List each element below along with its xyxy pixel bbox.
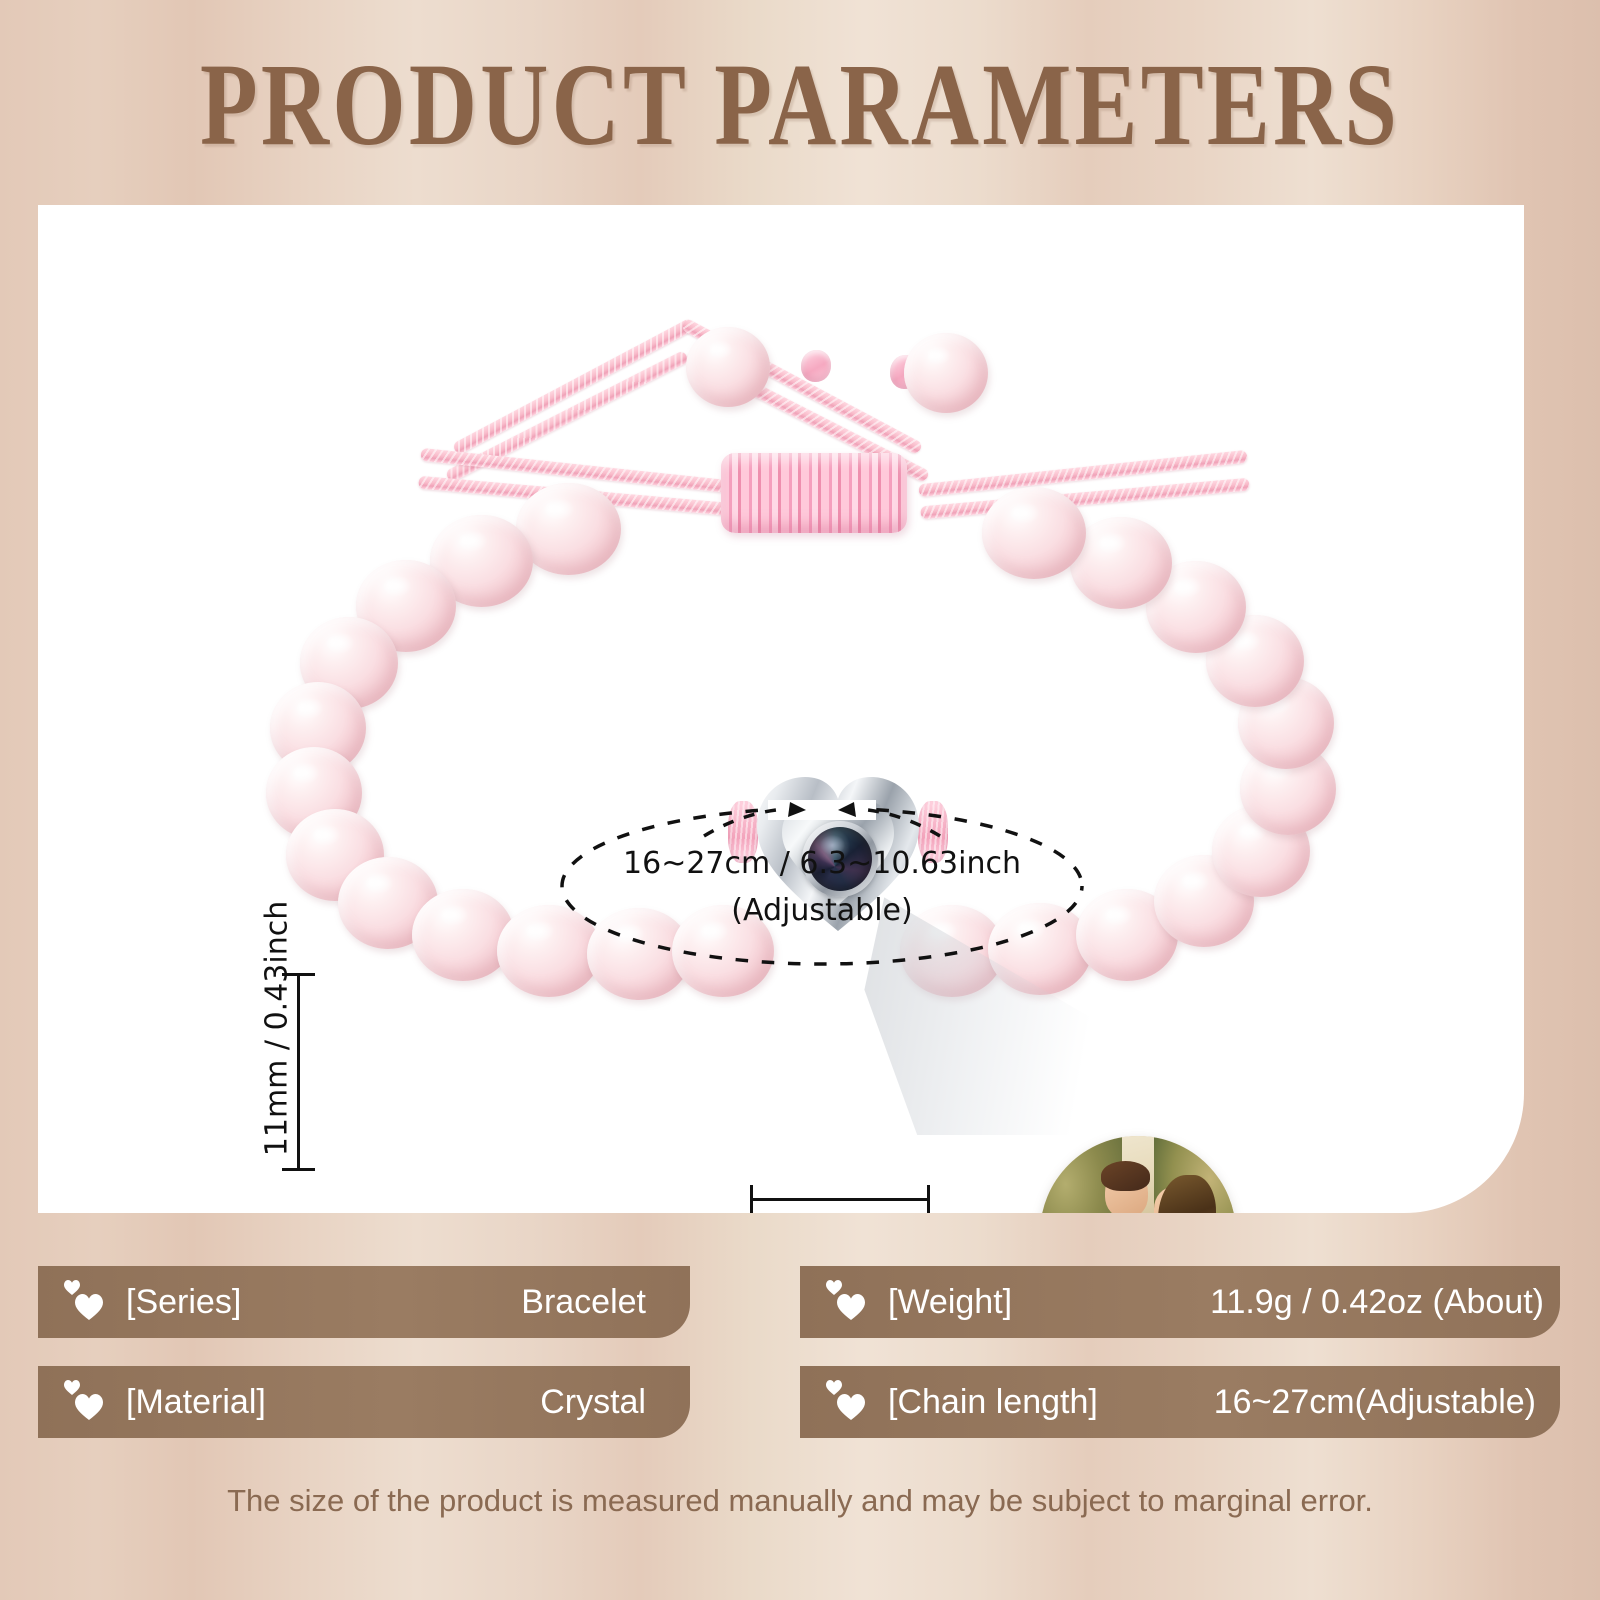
- bead-size-label: 11mm / 0.43inch: [260, 884, 295, 1174]
- disclaimer-text: The size of the product is measured manu…: [0, 1483, 1600, 1519]
- page-title: PRODUCT PARAMETERS: [200, 46, 1400, 164]
- product-image-card: 16~27cm / 6.3~10.63inch (Adjustable) 11m…: [38, 205, 1524, 1213]
- parameter-material: [Material] Crystal: [38, 1366, 690, 1438]
- parameter-label: [Weight]: [888, 1283, 1012, 1322]
- bracelet-bead: [412, 889, 514, 981]
- double-heart-icon: [64, 1280, 110, 1324]
- parameter-chain-length: [Chain length] 16~27cm(Adjustable): [800, 1366, 1560, 1438]
- parameter-row-2: [Material] Crystal [Chain length] 16~27c…: [0, 1366, 1600, 1466]
- double-heart-icon: [64, 1380, 110, 1424]
- end-bead-left: [686, 327, 770, 407]
- parameter-value: Bracelet: [521, 1283, 646, 1322]
- parameter-value: Crystal: [540, 1383, 646, 1422]
- parameter-value: 11.9g / 0.42oz (About): [1210, 1283, 1544, 1322]
- heart-small-icon: [64, 1380, 80, 1395]
- cord-left-upper: [452, 317, 696, 455]
- circumference-callout: 16~27cm / 6.3~10.63inch (Adjustable): [554, 800, 1090, 972]
- heart-small-icon: [64, 1280, 80, 1295]
- adjustable-slider-knot: [721, 453, 907, 533]
- dimension-line-vertical: [297, 973, 300, 1171]
- heart-large-icon: [75, 1294, 103, 1320]
- parameter-weight: [Weight] 11.9g / 0.42oz (About): [800, 1266, 1560, 1338]
- parameter-label: [Series]: [126, 1283, 241, 1322]
- parameter-list: [Series] Bracelet [Weight] 11.9g / 0.42o…: [0, 1266, 1600, 1466]
- parameter-label: [Chain length]: [888, 1383, 1098, 1422]
- dimension-cap-right: [927, 1185, 930, 1213]
- photo-man-hair: [1101, 1161, 1150, 1190]
- parameter-value: 16~27cm(Adjustable): [1214, 1383, 1536, 1422]
- heart-large-icon: [837, 1394, 865, 1420]
- bracelet-illustration: 16~27cm / 6.3~10.63inch (Adjustable) 11m…: [38, 205, 1524, 1213]
- page-header: PRODUCT PARAMETERS: [0, 40, 1600, 170]
- parameter-series: [Series] Bracelet: [38, 1266, 690, 1338]
- end-bead-right: [904, 333, 988, 413]
- double-heart-icon: [826, 1280, 872, 1324]
- cord-knot-left-end: [801, 350, 831, 382]
- ellipse-gap-mask: [768, 800, 876, 820]
- circumference-line-1: 16~27cm / 6.3~10.63inch: [554, 840, 1090, 887]
- couple-photo-preview: [1040, 1136, 1236, 1213]
- dimension-line-horizontal: [750, 1198, 930, 1201]
- parameter-row-1: [Series] Bracelet [Weight] 11.9g / 0.42o…: [0, 1266, 1600, 1366]
- circumference-text: 16~27cm / 6.3~10.63inch (Adjustable): [554, 840, 1090, 934]
- circumference-line-2: (Adjustable): [554, 887, 1090, 934]
- heart-large-icon: [837, 1294, 865, 1320]
- parameter-label: [Material]: [126, 1383, 266, 1422]
- bracelet-bead: [982, 487, 1086, 579]
- heart-small-icon: [826, 1280, 842, 1295]
- double-heart-icon: [826, 1380, 872, 1424]
- bead-size-dimension: 11mm / 0.43inch: [218, 905, 318, 1213]
- heart-small-icon: [826, 1380, 842, 1395]
- heart-large-icon: [75, 1394, 103, 1420]
